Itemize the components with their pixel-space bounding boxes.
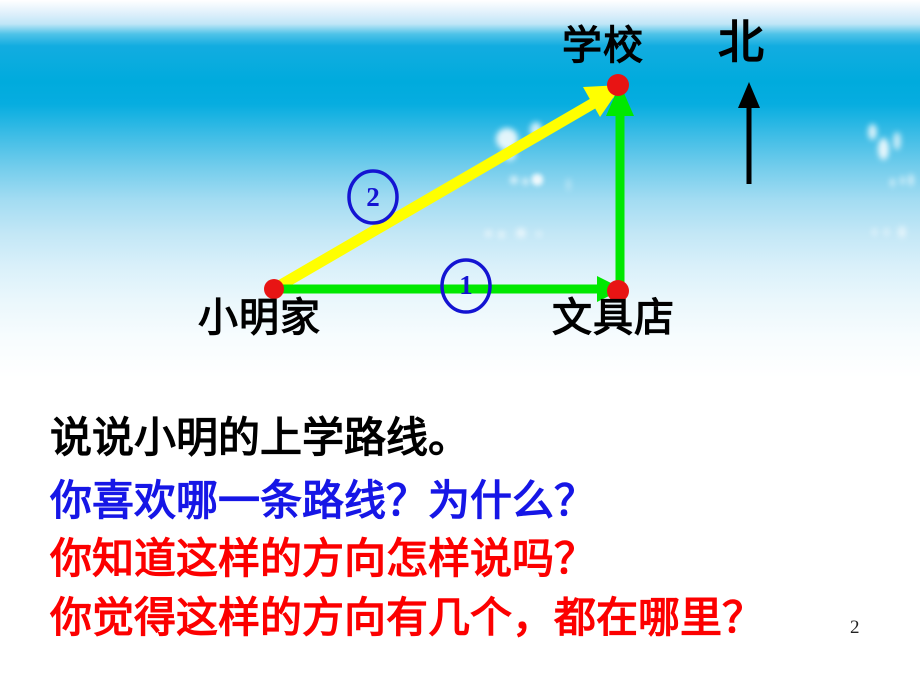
node-school-marker [607, 74, 629, 96]
question-line-1: 说说小明的上学路线。 [50, 418, 470, 460]
map-label-store: 文具店 [552, 298, 675, 338]
question-line-3: 你知道这样的方向怎样说吗？ [50, 539, 596, 581]
route-badge-label-2: 2 [350, 184, 396, 211]
question-line-4: 你觉得这样的方向有几个，都在哪里？ [50, 598, 764, 640]
map-label-north: 北 [718, 20, 765, 66]
route-2-yellow-arrow [274, 85, 622, 289]
route-1-green-vertical-arrow [606, 84, 634, 289]
map-label-home: 小明家 [198, 298, 321, 338]
map-label-school: 学校 [562, 26, 644, 66]
route-badge-label-1: 1 [443, 272, 489, 299]
slide-canvas: 学校 北 小明家 文具店 1 2 说说小明的上学路线。 你喜欢哪一条路线？为什么… [0, 0, 920, 690]
north-arrow-icon [738, 82, 760, 184]
route-diagram [0, 0, 920, 400]
page-number: 2 [850, 617, 860, 639]
question-line-2: 你喜欢哪一条路线？为什么？ [50, 481, 596, 523]
